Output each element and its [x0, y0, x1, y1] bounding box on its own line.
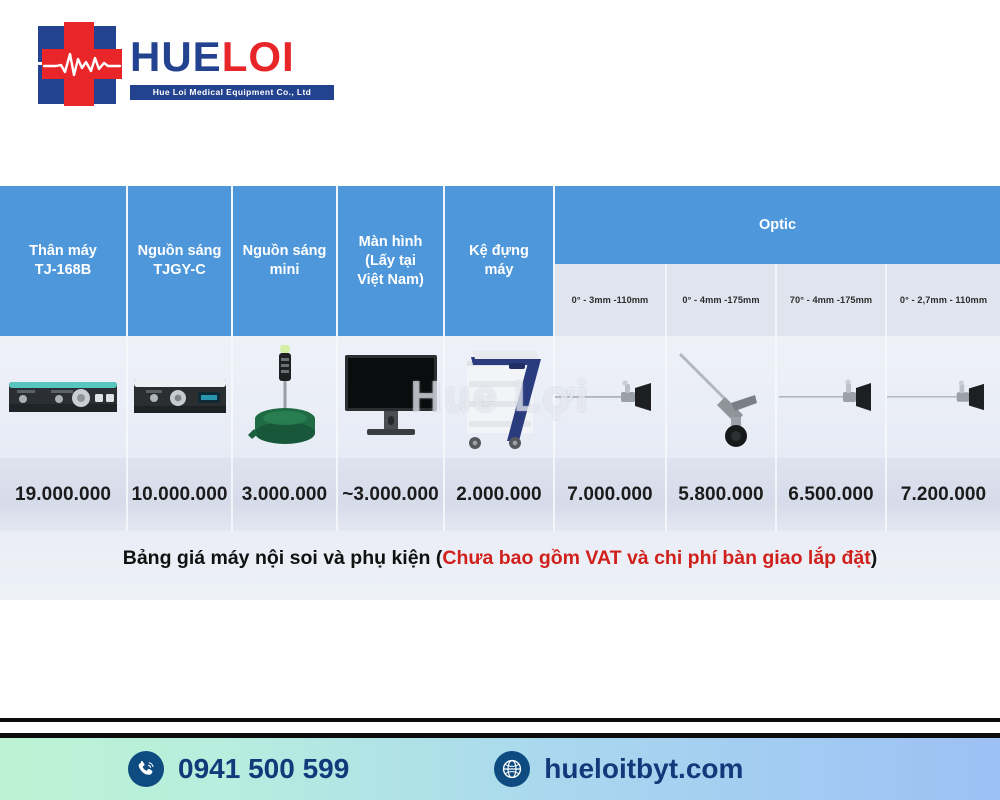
price-table: Thân máyTJ-168B Nguồn sángTJGY-C Nguồn s…	[0, 186, 1000, 531]
price-than-may: 19.000.000	[0, 458, 128, 531]
product-cell-optic-1	[555, 336, 667, 458]
medical-monitor-icon	[343, 353, 439, 441]
footer-phone-item[interactable]: 0941 500 599	[128, 751, 349, 787]
product-cell-nguon-sang-tjgyc	[128, 336, 233, 458]
product-cell-than-may	[0, 336, 128, 458]
table-header-row: Thân máyTJ-168B Nguồn sángTJGY-C Nguồn s…	[0, 186, 1000, 336]
logo-header: HUELOI Hue Loi Medical Equipment Co., Lt…	[0, 0, 1000, 160]
price-optic-2: 5.800.000	[667, 458, 777, 531]
column-header-than-may: Thân máyTJ-168B	[0, 186, 128, 336]
price-man-hinh: ~3.000.000	[338, 458, 445, 531]
ecg-waveform-icon	[42, 49, 122, 79]
rigid-endoscope-optic-thin-icon	[555, 375, 665, 419]
product-cell-ke-dung-may	[445, 336, 555, 458]
product-cell-optic-2	[667, 336, 777, 458]
column-header-ke-dung-may: Kệ đựngmáy	[445, 186, 555, 336]
mini-light-source-green-icon	[248, 345, 322, 449]
caption-suffix: )	[871, 547, 878, 570]
caption-highlight: Chưa bao gồm VAT và chi phí bàn giao lắp…	[442, 547, 870, 570]
product-cell-man-hinh	[338, 336, 445, 458]
column-header-optic-1: 0° - 3mm -110mm	[555, 264, 667, 336]
column-header-optic-group: Optic	[555, 186, 1000, 264]
footer-website-url: hueloitbyt.com	[544, 753, 743, 785]
column-header-optic-4: 0° - 2,7mm - 110mm	[887, 264, 1000, 336]
caption-main: Bảng giá máy nội soi và phụ kiện (	[123, 547, 443, 570]
price-optic-4: 7.200.000	[887, 458, 1000, 531]
brand-name-loi: LOI	[222, 33, 295, 80]
price-optic-3: 6.500.000	[777, 458, 887, 531]
phone-call-icon	[128, 751, 164, 787]
hospital-cross-ecg-logo-icon	[34, 22, 126, 106]
price-nguon-sang-tjgyc: 10.000.000	[128, 458, 233, 531]
rigid-endoscope-optic-short-icon	[887, 375, 1000, 419]
footer-website-item[interactable]: hueloitbyt.com	[494, 751, 743, 787]
rigid-endoscope-optic-long-icon	[779, 375, 883, 419]
column-header-optic-2: 0° - 4mm -175mm	[667, 264, 777, 336]
table-caption: Bảng giá máy nội soi và phụ kiện (Chưa b…	[0, 531, 1000, 586]
table-image-row	[0, 336, 1000, 458]
led-light-source-black-icon	[132, 373, 228, 421]
contact-footer: 0941 500 599 hueloitbyt.com	[0, 733, 1000, 800]
price-optic-1: 7.000.000	[555, 458, 667, 531]
column-header-nguon-sang-tjgyc: Nguồn sángTJGY-C	[128, 186, 233, 336]
table-price-row: 19.000.000 10.000.000 3.000.000 ~3.000.0…	[0, 458, 1000, 531]
product-cell-optic-4	[887, 336, 1000, 458]
company-logo: HUELOI Hue Loi Medical Equipment Co., Lt…	[34, 22, 334, 120]
column-header-nguon-sang-mini: Nguồn sángmini	[233, 186, 338, 336]
price-table-block: Thân máyTJ-168B Nguồn sángTJGY-C Nguồn s…	[0, 186, 1000, 600]
product-cell-optic-3	[777, 336, 887, 458]
brand-tagline: Hue Loi Medical Equipment Co., Ltd	[130, 85, 334, 100]
column-header-man-hinh: Màn hình(Lấy tạiViệt Nam)	[338, 186, 445, 336]
rigid-endoscope-optic-angled-handle-icon	[669, 345, 773, 449]
endoscope-camera-processor-teal-icon	[7, 374, 119, 420]
brand-wordmark: HUELOI	[130, 32, 340, 82]
price-ke-dung-may: 2.000.000	[445, 458, 555, 531]
footer-phone-number: 0941 500 599	[178, 753, 349, 785]
globe-icon	[494, 751, 530, 787]
equipment-trolley-cart-icon	[449, 343, 549, 451]
product-cell-nguon-sang-mini	[233, 336, 338, 458]
price-nguon-sang-mini: 3.000.000	[233, 458, 338, 531]
brand-name-hue: HUE	[130, 33, 222, 80]
column-header-optic-3: 70° - 4mm -175mm	[777, 264, 887, 336]
footer-divider	[0, 718, 1000, 722]
